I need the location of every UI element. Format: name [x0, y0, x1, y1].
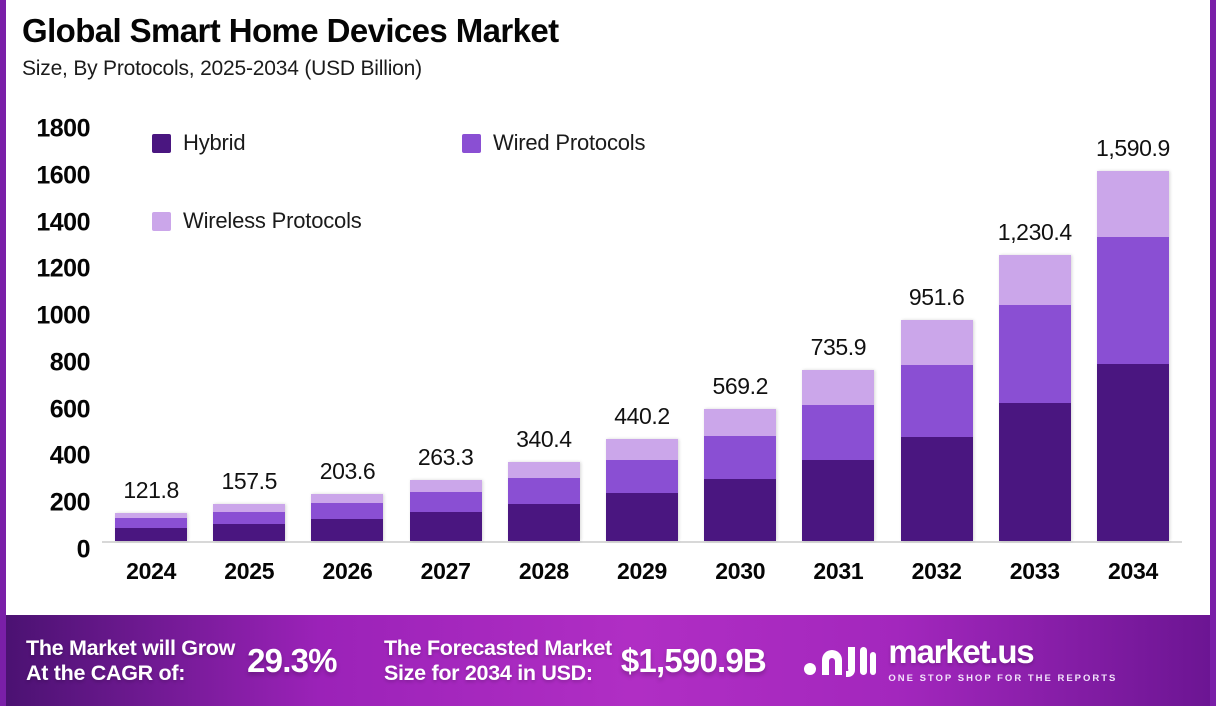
bar-stack[interactable] — [311, 494, 383, 541]
x-axis-labels: 2024202520262027202820292030203120322033… — [102, 558, 1182, 585]
x-tick-label: 2034 — [1084, 558, 1182, 585]
bar-total-label: 203.6 — [320, 458, 376, 485]
y-tick-label: 1400 — [36, 208, 90, 237]
x-tick-label: 2027 — [397, 558, 495, 585]
forecast-value: $1,590.9B — [621, 642, 796, 680]
page-title: Global Smart Home Devices Market — [22, 14, 559, 49]
bar-segment-wireless[interactable] — [999, 255, 1071, 306]
bar-stack[interactable] — [802, 370, 874, 541]
bar-stack[interactable] — [901, 320, 973, 542]
bar-segment-wireless[interactable] — [901, 320, 973, 365]
bar-stack[interactable] — [213, 504, 285, 541]
bar-segment-hybrid[interactable] — [311, 519, 383, 541]
y-tick-label: 200 — [50, 489, 90, 518]
y-tick-label: 400 — [50, 442, 90, 471]
bar-segment-wired[interactable] — [901, 365, 973, 437]
plot-area: 121.8157.5203.6263.3340.4440.2569.2735.9… — [102, 120, 1182, 543]
bar-segment-hybrid[interactable] — [115, 528, 187, 541]
bar-slot: 121.8 — [102, 120, 200, 541]
bar-segment-wired[interactable] — [508, 478, 580, 504]
chart-page: Global Smart Home Devices Market Size, B… — [0, 0, 1216, 706]
y-axis-labels: 180016001400120010008006004002000 — [6, 120, 90, 543]
bar-segment-wired[interactable] — [213, 512, 285, 524]
bar-total-label: 440.2 — [614, 403, 670, 430]
x-axis-line — [102, 541, 1182, 543]
bar-segment-hybrid[interactable] — [508, 504, 580, 541]
bar-stack[interactable] — [1097, 171, 1169, 541]
x-tick-label: 2029 — [593, 558, 691, 585]
bar-stack[interactable] — [606, 439, 678, 541]
bar-stack[interactable] — [508, 462, 580, 541]
bar-segment-hybrid[interactable] — [213, 524, 285, 541]
bar-segment-wired[interactable] — [1097, 237, 1169, 364]
market-us-logo-text: market.us ONE STOP SHOP FOR THE REPORTS — [888, 635, 1210, 686]
bar-segment-wireless[interactable] — [508, 462, 580, 478]
bar-total-label: 1,230.4 — [998, 219, 1072, 246]
bar-slot: 569.2 — [691, 120, 789, 541]
y-tick-label: 1600 — [36, 161, 90, 190]
x-tick-label: 2030 — [691, 558, 789, 585]
bar-segment-hybrid[interactable] — [802, 460, 874, 541]
bar-segment-hybrid[interactable] — [606, 493, 678, 541]
bar-segment-hybrid[interactable] — [999, 403, 1071, 541]
bar-segment-wired[interactable] — [311, 503, 383, 518]
bar-segment-hybrid[interactable] — [410, 512, 482, 541]
bar-segment-wireless[interactable] — [802, 370, 874, 405]
bar-slot: 203.6 — [298, 120, 396, 541]
bar-total-label: 569.2 — [712, 373, 768, 400]
bar-segment-wireless[interactable] — [311, 494, 383, 504]
bar-group: 121.8157.5203.6263.3340.4440.2569.2735.9… — [102, 120, 1182, 541]
x-tick-label: 2033 — [986, 558, 1084, 585]
forecast-label-line2: Size for 2034 in USD: — [384, 661, 621, 686]
x-tick-label: 2024 — [102, 558, 200, 585]
bar-slot: 157.5 — [200, 120, 298, 541]
y-tick-label: 800 — [50, 348, 90, 377]
y-tick-label: 1800 — [36, 115, 90, 144]
cagr-label-line1: The Market will Grow — [26, 636, 247, 661]
cagr-label: The Market will Grow At the CAGR of: — [26, 636, 247, 686]
y-tick-label: 600 — [50, 395, 90, 424]
cagr-label-line2: At the CAGR of: — [26, 661, 247, 686]
x-tick-label: 2028 — [495, 558, 593, 585]
bar-segment-hybrid[interactable] — [704, 479, 776, 541]
bar-stack[interactable] — [704, 409, 776, 541]
bar-segment-wireless[interactable] — [606, 439, 678, 460]
forecast-label: The Forecasted Market Size for 2034 in U… — [384, 636, 621, 686]
bar-segment-wireless[interactable] — [704, 409, 776, 436]
bar-total-label: 121.8 — [123, 477, 179, 504]
y-tick-label: 1200 — [36, 255, 90, 284]
bar-segment-wired[interactable] — [606, 460, 678, 493]
cagr-value: 29.3% — [247, 642, 384, 680]
bar-segment-wired[interactable] — [704, 436, 776, 479]
bar-total-label: 951.6 — [909, 284, 965, 311]
bar-segment-hybrid[interactable] — [1097, 364, 1169, 541]
market-us-logo-icon — [802, 638, 878, 684]
bar-stack[interactable] — [410, 480, 482, 541]
bar-slot: 340.4 — [495, 120, 593, 541]
bar-slot: 735.9 — [789, 120, 887, 541]
bar-total-label: 735.9 — [811, 334, 867, 361]
logo-tagline: ONE STOP SHOP FOR THE REPORTS — [888, 673, 1117, 684]
bar-total-label: 340.4 — [516, 426, 572, 453]
bar-segment-wireless[interactable] — [213, 504, 285, 511]
forecast-label-line1: The Forecasted Market — [384, 636, 621, 661]
x-tick-label: 2032 — [888, 558, 986, 585]
bar-slot: 263.3 — [397, 120, 495, 541]
bar-stack[interactable] — [115, 513, 187, 541]
bar-slot: 440.2 — [593, 120, 691, 541]
market-us-logo[interactable]: market.us ONE STOP SHOP FOR THE REPORTS — [802, 635, 1210, 686]
bar-segment-wireless[interactable] — [1097, 171, 1169, 237]
bar-segment-wireless[interactable] — [410, 480, 482, 493]
bar-segment-wired[interactable] — [999, 305, 1071, 403]
bar-segment-wired[interactable] — [410, 492, 482, 512]
bar-segment-hybrid[interactable] — [901, 437, 973, 541]
x-tick-label: 2025 — [200, 558, 298, 585]
bar-total-label: 263.3 — [418, 444, 474, 471]
bar-slot: 1,590.9 — [1084, 120, 1182, 541]
footer-banner: The Market will Grow At the CAGR of: 29.… — [6, 615, 1210, 706]
x-tick-label: 2026 — [298, 558, 396, 585]
logo-wordmark: market.us — [888, 633, 1033, 670]
bar-slot: 1,230.4 — [986, 120, 1084, 541]
bar-segment-wired[interactable] — [802, 405, 874, 461]
bar-slot: 951.6 — [888, 120, 986, 541]
y-tick-label: 0 — [77, 536, 90, 565]
bar-stack[interactable] — [999, 255, 1071, 541]
bar-total-label: 1,590.9 — [1096, 135, 1170, 162]
chart-header: Global Smart Home Devices Market Size, B… — [22, 14, 559, 81]
x-tick-label: 2031 — [789, 558, 887, 585]
page-subtitle: Size, By Protocols, 2025-2034 (USD Billi… — [22, 57, 559, 81]
bar-segment-wired[interactable] — [115, 518, 187, 527]
bar-total-label: 157.5 — [222, 468, 278, 495]
y-tick-label: 1000 — [36, 302, 90, 331]
